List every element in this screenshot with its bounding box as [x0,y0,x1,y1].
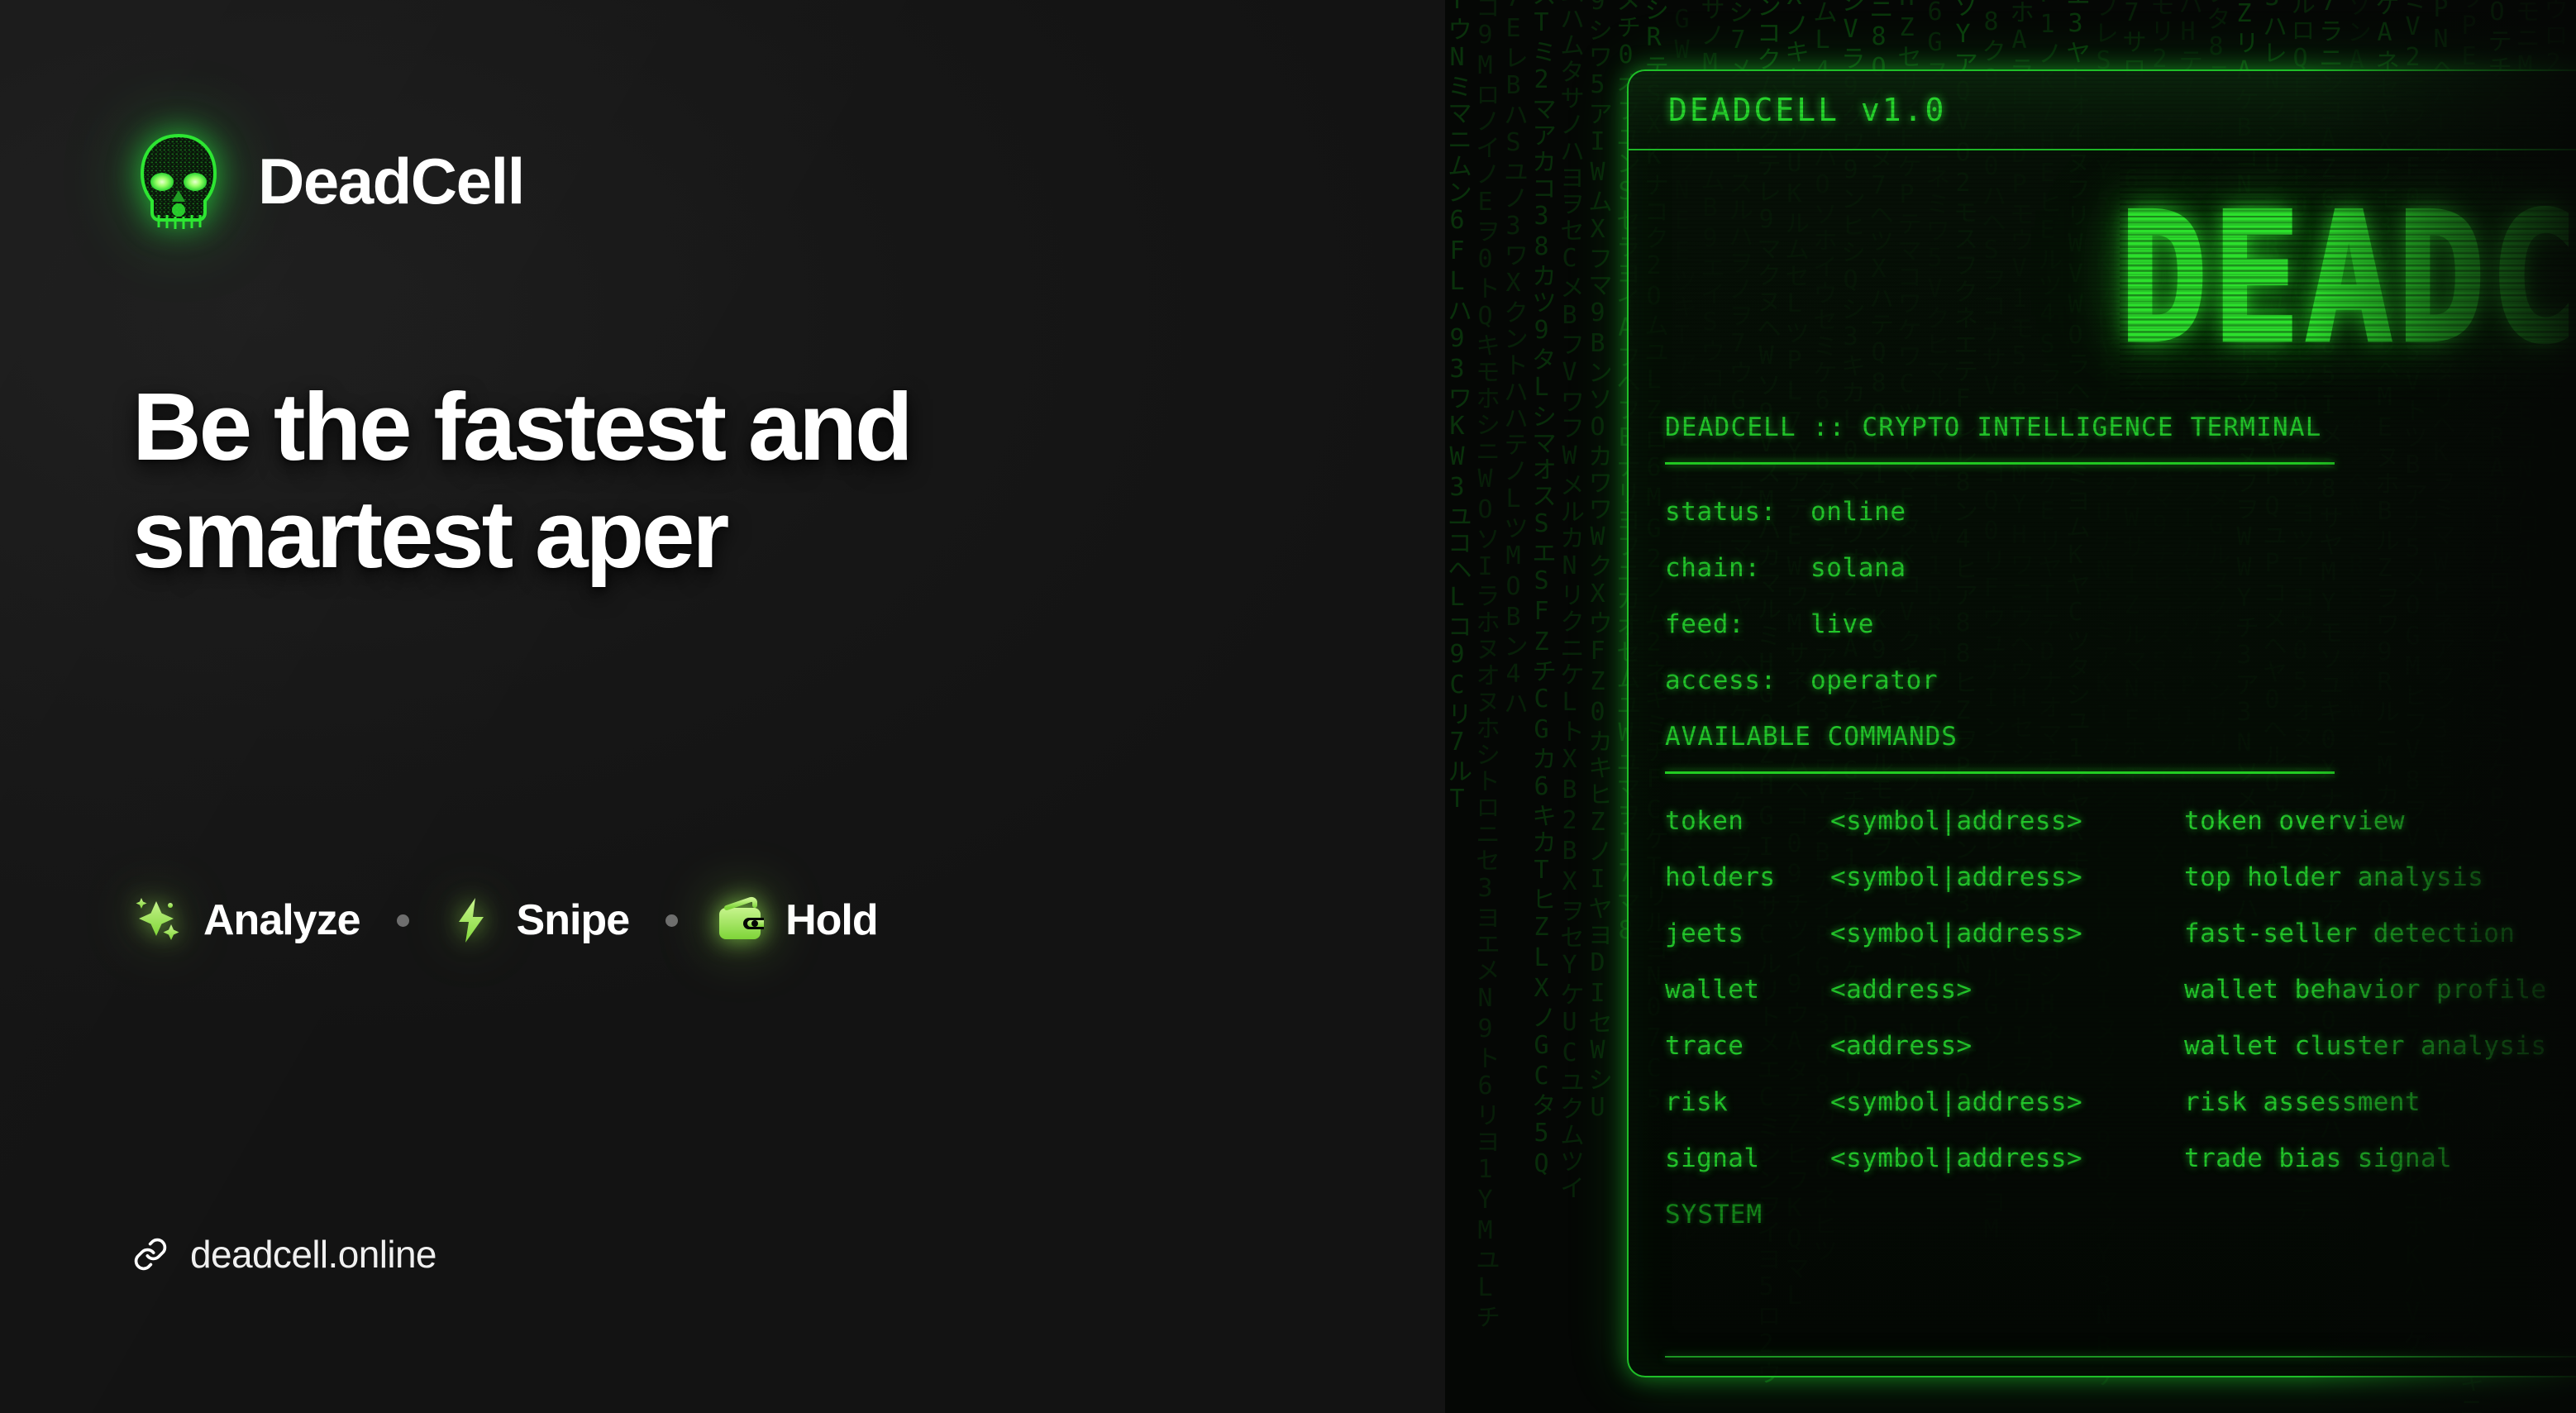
command-arg: <symbol|address> [1830,809,2184,834]
terminal-output: DEADCELL :: CRYPTO INTELLIGENCE TERMINAL… [1665,415,2576,1228]
link-chain-icon [132,1236,169,1272]
terminal-window-title: DEADCELL v1.0 [1668,92,1946,128]
terminal-status-row: chain:solana [1665,556,2576,581]
site-link[interactable]: deadcell.online [132,1232,436,1277]
feature-separator-dot [665,914,678,927]
command-arg: <symbol|address> [1830,865,2184,890]
terminal-titlebar: DEADCELL v1.0 [1629,71,2576,150]
feature-label-snipe: Snipe [517,895,630,945]
commands-table: token <symbol|address> token overview ho… [1665,809,2576,1172]
system-label: SYSTEM [1665,1202,2576,1228]
terminal-divider-top [1665,462,2335,465]
command-row: token <symbol|address> token overview [1665,809,2576,834]
feature-label-hold: Hold [785,895,878,945]
command-name: holders [1665,865,1830,890]
page-title: Be the fastest and smartest aper [132,374,1306,589]
terminal-status-row: feed:live [1665,612,2576,637]
feature-item-snipe: Snipe [446,895,630,946]
status-key: status: [1665,499,1810,525]
terminal-window: DEADCELL v1.0 DEADCELL DEADCELL :: CRYPT… [1627,69,2576,1377]
terminal-status-row: status:online [1665,499,2576,525]
skull-icon [134,132,223,230]
terminal-divider-commands [1665,771,2335,774]
command-desc: fast-seller detection [2184,921,2515,947]
command-desc: risk assessment [2184,1090,2421,1115]
commands-heading: AVAILABLE COMMANDS [1665,724,2576,750]
feature-list: Analyze Snipe [132,895,878,946]
feature-item-analyze: Analyze [132,895,360,946]
command-desc: wallet cluster analysis [2184,1033,2546,1059]
site-link-text: deadcell.online [190,1232,436,1277]
status-value: online [1810,497,1906,527]
command-row: holders <symbol|address> top holder anal… [1665,865,2576,890]
access-value: operator [1810,666,1938,695]
command-desc: trade bias signal [2184,1146,2452,1172]
command-arg: <address> [1830,1033,2184,1059]
command-name: wallet [1665,977,1830,1003]
command-arg: <symbol|address> [1830,1146,2184,1172]
lightning-bolt-icon [446,895,497,946]
feature-label-analyze: Analyze [203,895,360,945]
command-name: trace [1665,1033,1830,1059]
chain-value: solana [1810,553,1906,583]
command-row: trace <address> wallet cluster analysis [1665,1033,2576,1059]
command-row: wallet <address> wallet behavior profile [1665,977,2576,1003]
command-arg: <address> [1830,977,2184,1003]
feed-value: live [1810,609,1874,639]
command-desc: token overview [2184,809,2405,834]
command-name: signal [1665,1146,1830,1172]
brand-lockup: DeadCell [134,132,524,230]
command-row: signal <symbol|address> trade bias signa… [1665,1146,2576,1172]
promo-banner: DeadCell Be the fastest and smartest ape… [0,0,2576,1413]
feature-separator-dot [397,914,409,927]
sparkle-star-icon [132,895,184,946]
feature-item-hold: Hold [714,895,878,946]
terminal-divider-bottom [1665,1356,2576,1358]
terminal-banner: DEADCELL :: CRYPTO INTELLIGENCE TERMINAL [1665,415,2576,441]
chain-key: chain: [1665,556,1810,581]
command-name: token [1665,809,1830,834]
access-key: access: [1665,668,1810,694]
terminal-status-row: access:operator [1665,668,2576,694]
feed-key: feed: [1665,612,1810,637]
command-arg: <symbol|address> [1830,1090,2184,1115]
terminal-content: DEADCELL DEADCELL :: CRYPTO INTELLIGENCE… [1629,150,2576,1374]
command-name: jeets [1665,921,1830,947]
wallet-icon [714,895,766,946]
command-row: risk <symbol|address> risk assessment [1665,1090,2576,1115]
brand-name: DeadCell [258,149,524,213]
command-row: jeets <symbol|address> fast-seller detec… [1665,921,2576,947]
command-name: risk [1665,1090,1830,1115]
left-hero-panel: DeadCell Be the fastest and smartest ape… [0,0,1445,1413]
terminal-wordmark: DEADCELL [2120,175,2576,382]
command-arg: <symbol|address> [1830,921,2184,947]
terminal-preview-panel: O1テシAノGYウNミマニムン6FLハ93ワKW3ユコヘLコ9Cリ7ルTエF4ネ… [1445,0,2576,1413]
command-desc: wallet behavior profile [2184,977,2546,1003]
command-desc: top holder analysis [2184,865,2483,890]
